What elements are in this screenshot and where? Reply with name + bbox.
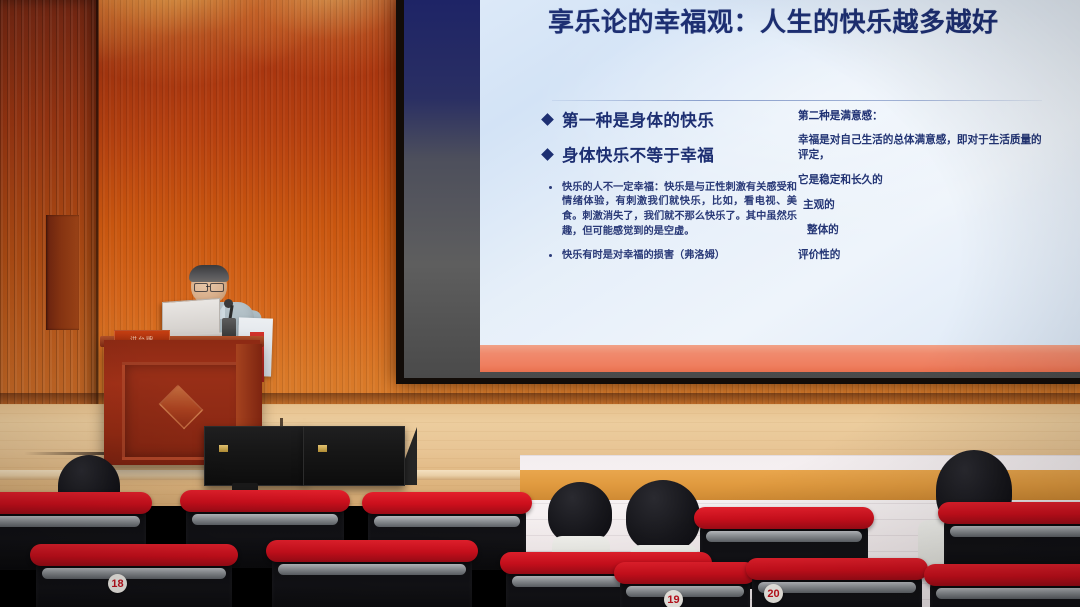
presentation-slide: 享乐论的幸福观：人生的快乐越多越好 第一种是身体的快乐 身体快乐不等于幸福 快乐… [480, 0, 1080, 372]
dot-bullet-icon [549, 186, 552, 189]
seat-red-trim [614, 562, 756, 584]
seat-metal-bar [936, 588, 1080, 599]
glasses-icon [210, 283, 224, 292]
slide-lead-2: 身体快乐不等于幸福 [542, 145, 797, 167]
slide-title: 享乐论的幸福观：人生的快乐越多越好 [548, 7, 1058, 39]
seat-metal-bar [0, 516, 140, 527]
monitor-logo-badge [219, 445, 228, 452]
slide-right-heading: 第二种是满意感： [798, 108, 1048, 123]
seat-red-trim [362, 492, 532, 514]
seat-metal-bar [278, 564, 466, 575]
audience-head [548, 482, 612, 544]
audience-head [626, 480, 700, 552]
dot-bullet-icon [549, 254, 552, 257]
slide-right-line-4: 整体的 [798, 223, 1048, 238]
seat-metal-bar [192, 514, 338, 525]
speaker-hair [189, 265, 229, 282]
slide-lead-1-text: 第一种是身体的快乐 [562, 111, 714, 130]
slide-divider [552, 100, 1042, 101]
slide-footer-band [480, 345, 1080, 372]
seat-red-trim [694, 507, 874, 529]
seat [930, 572, 1080, 607]
diamond-bullet-icon [541, 148, 554, 161]
seat [272, 548, 472, 607]
stage-side-door [46, 215, 79, 330]
monitor-logo-badge [318, 445, 327, 452]
seat: 20 [752, 566, 922, 607]
seat-red-trim [924, 564, 1080, 586]
seat-metal-bar [950, 526, 1080, 537]
slide-left-column: 第一种是身体的快乐 身体快乐不等于幸福 快乐的人不一定幸福：快乐是与正性刺激有关… [542, 110, 797, 272]
seat: 18 [36, 552, 232, 607]
slide-right-line-2: 它是稳定和长久的 [798, 173, 1048, 188]
glasses-icon [194, 283, 208, 292]
seat-metal-bar [374, 516, 520, 527]
slide-lead-1: 第一种是身体的快乐 [542, 110, 797, 132]
stage-monitor-left [204, 426, 306, 486]
slide-right-line-1: 幸福是对自己生活的总体满意感，即对于生活质量的评定， [798, 133, 1048, 163]
slide-right-column: 第二种是满意感： 幸福是对自己生活的总体满意感，即对于生活质量的评定， 它是稳定… [798, 108, 1048, 273]
seat-red-trim [938, 502, 1080, 524]
seat-red-trim [746, 558, 928, 580]
slide-right-line-5: 评价性的 [798, 248, 1048, 263]
seat-number-badge: 18 [108, 574, 127, 593]
seat-number-badge: 19 [664, 590, 683, 607]
seat-red-trim [266, 540, 478, 562]
seat-red-trim [30, 544, 238, 566]
seat-red-trim [180, 490, 350, 512]
slide-lead-2-text: 身体快乐不等于幸福 [562, 146, 714, 165]
projection-screen-frame: 享乐论的幸福观：人生的快乐越多越好 第一种是身体的快乐 身体快乐不等于幸福 快乐… [396, 0, 1080, 384]
glasses-bridge [206, 286, 210, 287]
stage-monitor-right [303, 426, 405, 486]
projection-screen-letterbox: 享乐论的幸福观：人生的快乐越多越好 第一种是身体的快乐 身体快乐不等于幸福 快乐… [404, 0, 1080, 378]
diamond-bullet-icon [541, 113, 554, 126]
seat-metal-bar [42, 568, 226, 579]
seat-metal-bar [706, 531, 862, 542]
slide-right-line-3: 主观的 [798, 198, 1048, 213]
seat-metal-bar [626, 586, 744, 597]
seat-number-badge: 20 [764, 584, 783, 603]
lecture-hall-scene: 享乐论的幸福观：人生的快乐越多越好 第一种是身体的快乐 身体快乐不等于幸福 快乐… [0, 0, 1080, 607]
seat: 19 [620, 570, 750, 607]
slide-bullet-2: 快乐有时是对幸福的损害（弗洛姆） [542, 249, 797, 264]
slide-bullet-1-text: 快乐的人不一定幸福：快乐是与正性刺激有关感受和情绪体验，有刺激我们就快乐，比如，… [562, 182, 797, 237]
slide-bullet-2-text: 快乐有时是对幸福的损害（弗洛姆） [562, 250, 725, 261]
slide-bullet-1: 快乐的人不一定幸福：快乐是与正性刺激有关感受和情绪体验，有刺激我们就快乐，比如，… [542, 181, 797, 240]
seat-red-trim [0, 492, 152, 514]
